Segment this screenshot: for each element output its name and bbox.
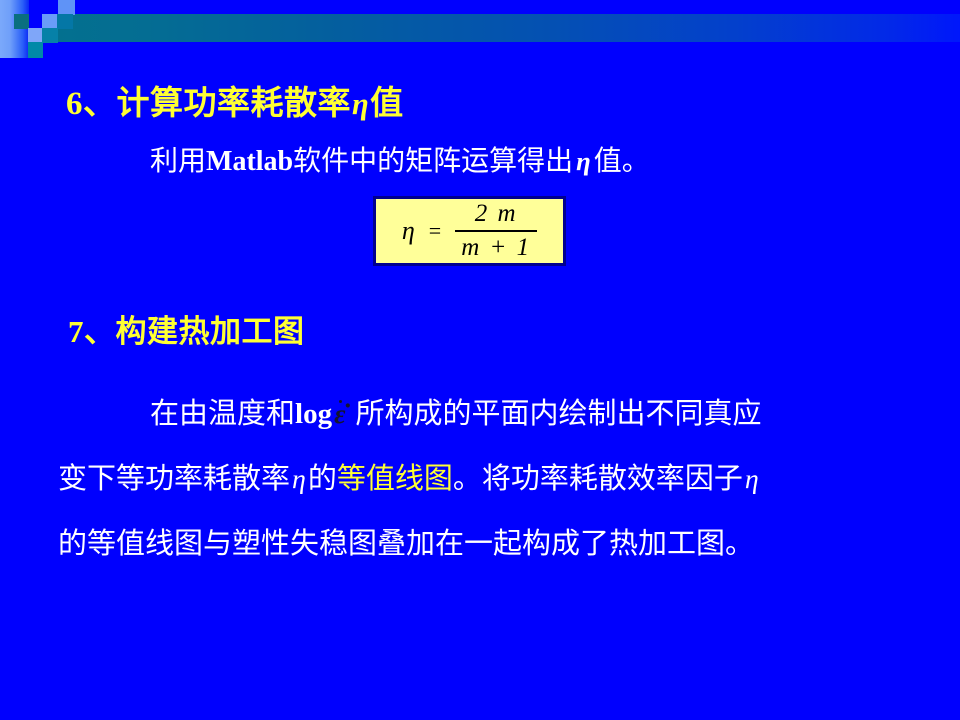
matlab-eta-symbol: η xyxy=(573,146,594,176)
paragraph-line-1: 在由温度和logε̇所构成的平面内绘制出不同真应 xyxy=(150,390,762,432)
para2-highlight-contour-map: 等值线图 xyxy=(337,463,453,495)
formula-box: η = 2 m m + 1 xyxy=(373,196,566,266)
formula-fraction: 2 m m + 1 xyxy=(455,200,537,262)
para1-segment-2: 所构成的平面内绘制出不同真应 xyxy=(356,398,762,430)
para3-segment-1: 的等值线图与塑性失稳图叠加在一起构成了热加工图。 xyxy=(58,528,754,560)
formula-fraction-bar xyxy=(455,230,537,232)
slide-content: 6、计算功率耗散率η值 利用Matlab软件中的矩阵运算得出η值。 η = 2 … xyxy=(0,0,960,720)
heading-7-text: 构建热加工图 xyxy=(116,314,305,349)
matlab-description-line: 利用Matlab软件中的矩阵运算得出η值。 xyxy=(150,139,650,179)
heading-6-text-after: 值 xyxy=(370,86,404,122)
heading-6-text-before: 计算功率耗散率 xyxy=(117,86,352,122)
heading-7-number: 7 xyxy=(68,314,84,349)
matlab-line-suffix: 值。 xyxy=(594,146,650,177)
paragraph-line-3: 的等值线图与塑性失稳图叠加在一起构成了热加工图。 xyxy=(58,520,754,562)
heading-6-number: 6 xyxy=(66,86,83,122)
para1-log-label: log xyxy=(295,398,332,430)
formula-denominator: m + 1 xyxy=(455,233,537,262)
formula-lhs-eta: η xyxy=(402,216,415,246)
para2-eta-symbol-2: η xyxy=(743,464,761,495)
matlab-software-name: Matlab xyxy=(206,146,293,177)
matlab-line-middle: 软件中的矩阵运算得出 xyxy=(293,146,573,177)
formula-numerator: 2 m xyxy=(455,200,537,229)
para2-segment-1: 变下等功率耗散率 xyxy=(58,463,290,495)
para2-segment-2: 的 xyxy=(308,463,337,495)
para2-segment-3: 。将功率耗散效率因子 xyxy=(453,463,743,495)
heading-item-6: 6、计算功率耗散率η值 xyxy=(66,76,404,124)
matlab-line-prefix: 利用 xyxy=(150,146,206,177)
heading-6-eta-symbol: η xyxy=(351,87,370,121)
formula-expression: η = 2 m m + 1 xyxy=(402,200,537,262)
para1-strain-rate-symbol: ε̇ xyxy=(332,399,355,430)
heading-6-separator: 、 xyxy=(83,86,117,122)
heading-item-7: 7、构建热加工图 xyxy=(68,306,305,351)
para2-eta-symbol-1: η xyxy=(290,464,308,495)
para1-segment-1: 在由温度和 xyxy=(150,398,295,430)
paragraph-line-2: 变下等功率耗散率η的等值线图。将功率耗散效率因子η xyxy=(58,455,761,497)
formula-equals-sign: = xyxy=(429,218,441,244)
heading-7-separator: 、 xyxy=(84,314,116,349)
